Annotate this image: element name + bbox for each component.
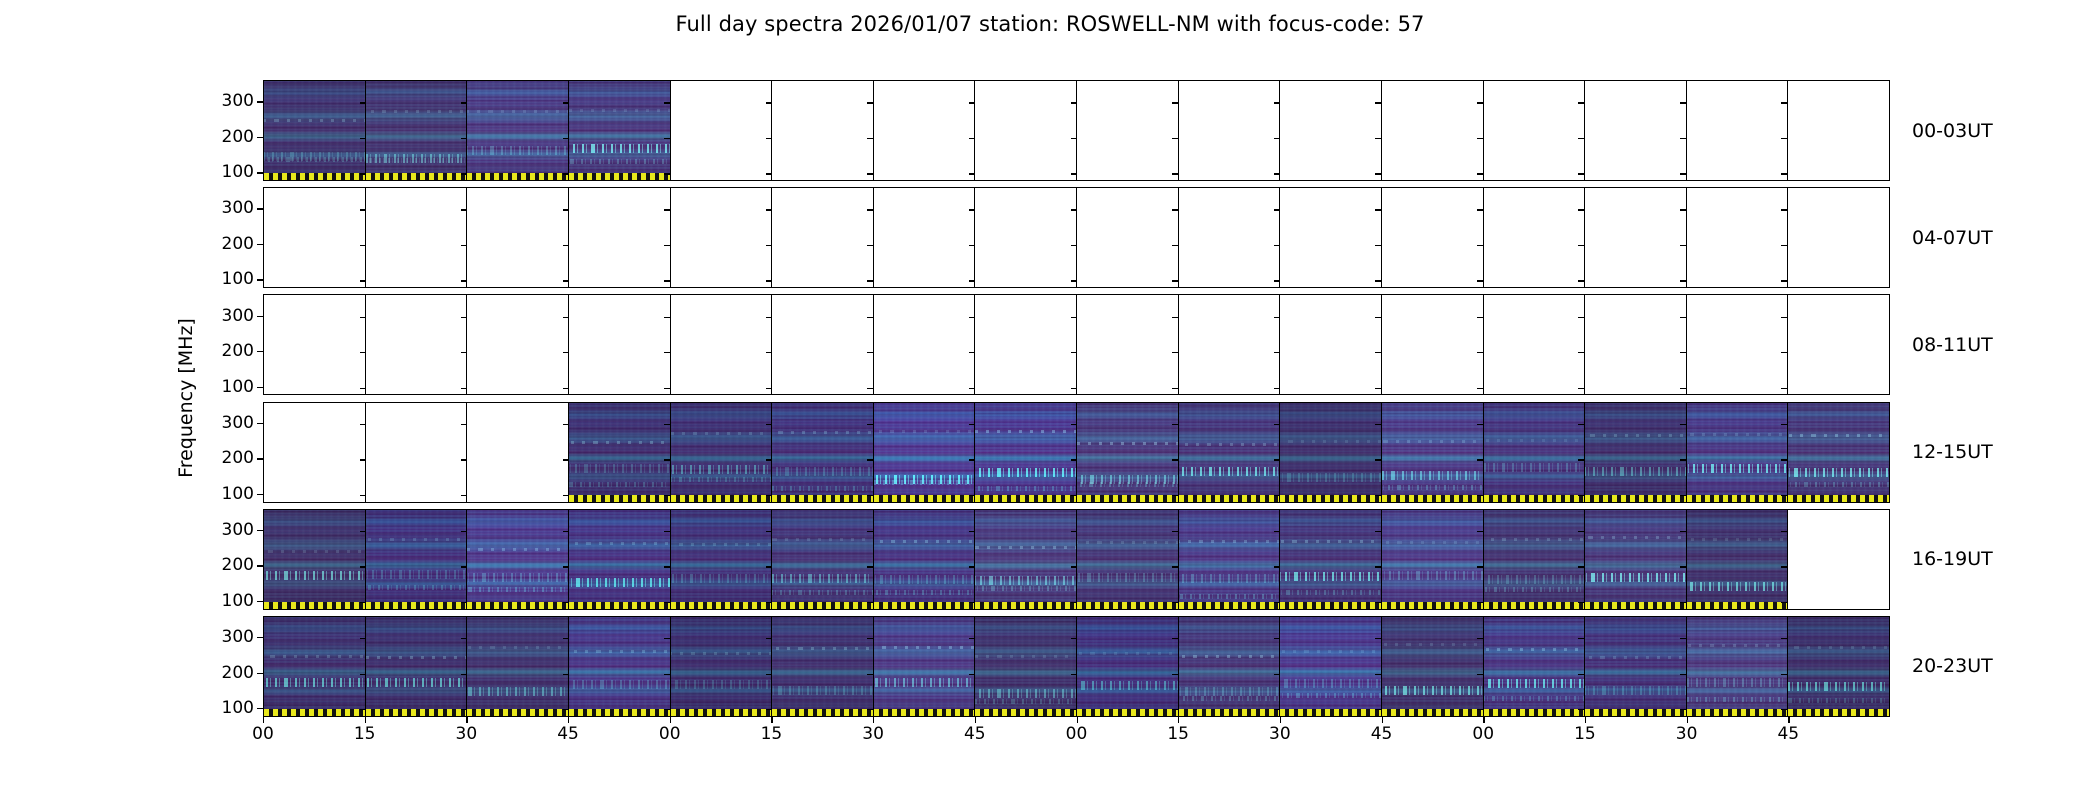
y-tick-mark-inner (969, 280, 975, 281)
y-tick-label: 200 (222, 663, 254, 683)
y-tick-mark-inner (766, 102, 772, 103)
y-tick-mark-inner (1274, 280, 1280, 281)
spectrogram-cell-empty[interactable] (1788, 81, 1889, 180)
spectrogram-cell-empty[interactable] (671, 188, 773, 287)
y-tick-mark-inner (360, 138, 366, 139)
y-tick-mark-inner (867, 495, 873, 496)
row-label-12-15ut: 12-15UT (1912, 441, 1993, 463)
emission-burst-band (1280, 473, 1381, 482)
y-tick-mark-inner (1375, 566, 1381, 567)
spectrogram-cell[interactable] (1484, 510, 1586, 609)
emission-burst-band-secondary (467, 587, 568, 592)
spectrogram-cell[interactable] (264, 510, 366, 609)
emission-burst-band-secondary (1788, 482, 1889, 487)
y-tick-label: 100 (222, 484, 254, 504)
y-tick-mark-inner (867, 173, 873, 174)
emission-burst-band (1484, 463, 1585, 472)
spectrogram-cell[interactable] (569, 617, 671, 716)
spectrogram-image (1077, 617, 1178, 709)
y-tick-mark (257, 101, 263, 102)
spectrogram-cell-empty[interactable] (1179, 81, 1281, 180)
y-tick-mark-inner (1680, 602, 1686, 603)
y-tick-mark-inner (1172, 138, 1178, 139)
spectrogram-cell-empty[interactable] (874, 81, 976, 180)
status-strip (975, 495, 1076, 502)
y-tick-mark-inner (1781, 138, 1787, 139)
y-tick-mark-inner (664, 352, 670, 353)
spectrogram-cell-empty[interactable] (1788, 510, 1889, 609)
y-tick-mark-inner (969, 566, 975, 567)
spectrogram-cell-empty[interactable] (569, 188, 671, 287)
spectrogram-cell[interactable] (1077, 617, 1179, 716)
spectrogram-cell[interactable] (264, 81, 366, 180)
spectrogram-image (772, 403, 873, 495)
spectrogram-image (264, 510, 365, 602)
spectral-streak-band (264, 550, 365, 553)
spectrogram-cell-empty[interactable] (1280, 295, 1382, 394)
spectrogram-cell[interactable] (1179, 403, 1281, 502)
spectrogram-cell[interactable] (671, 510, 773, 609)
x-tick-mark (263, 717, 264, 723)
y-tick-mark-inner (1071, 352, 1077, 353)
spectrogram-cell-empty[interactable] (467, 295, 569, 394)
spectral-streak-band (1687, 538, 1788, 541)
spectrogram-cell[interactable] (671, 617, 773, 716)
status-strip (1382, 495, 1483, 502)
spectrogram-image (1280, 617, 1381, 709)
y-tick-label: 200 (222, 555, 254, 575)
spectrogram-cell[interactable] (1585, 403, 1687, 502)
spectrogram-image (264, 81, 365, 173)
spectrogram-image (569, 81, 670, 173)
spectrogram-cell-empty[interactable] (1382, 295, 1484, 394)
spectrogram-cell[interactable] (366, 617, 468, 716)
y-tick-mark-inner (360, 388, 366, 389)
emission-burst-band (1788, 468, 1889, 477)
y-tick-mark-inner (1680, 352, 1686, 353)
y-tick-mark-inner (1375, 138, 1381, 139)
emission-burst-band (569, 144, 670, 153)
y-tick-mark-inner (1172, 459, 1178, 460)
y-tick-mark-inner (867, 709, 873, 710)
x-tick-label: 00 (1066, 724, 1088, 744)
y-tick-mark-inner (360, 209, 366, 210)
spectrogram-cell-empty[interactable] (1585, 81, 1687, 180)
spectrogram-cell-empty[interactable] (1179, 295, 1281, 394)
spectral-streak-band (569, 542, 670, 545)
y-tick-mark-inner (1477, 102, 1483, 103)
status-strip (1585, 495, 1686, 502)
status-strip (1788, 495, 1889, 502)
spectral-streak-band (1484, 439, 1585, 442)
spectrogram-cell-empty[interactable] (366, 295, 468, 394)
spectrogram-cell-empty[interactable] (874, 295, 976, 394)
emission-burst-band (1687, 678, 1788, 687)
y-tick-mark-inner (461, 209, 467, 210)
y-tick-mark-inner (1172, 674, 1178, 675)
spectrogram-cell-empty[interactable] (264, 403, 366, 502)
spectrogram-cell[interactable] (467, 510, 569, 609)
spectrogram-cell-empty[interactable] (366, 403, 468, 502)
spectrogram-cell-empty[interactable] (1077, 295, 1179, 394)
spectrogram-cell[interactable] (1179, 617, 1281, 716)
spectral-streak-band (772, 431, 873, 434)
status-strip (1484, 602, 1585, 609)
y-tick-mark-inner (1274, 459, 1280, 460)
status-strip (1280, 709, 1381, 716)
spectrogram-cell[interactable] (467, 617, 569, 716)
spectrogram-cell[interactable] (874, 510, 976, 609)
spectrogram-cell[interactable] (772, 403, 874, 502)
spectrogram-cell-empty[interactable] (1280, 188, 1382, 287)
y-tick-mark-inner (563, 317, 569, 318)
y-tick-mark-inner (1172, 424, 1178, 425)
y-tick-mark-inner (766, 209, 772, 210)
y-tick-mark-inner (1172, 102, 1178, 103)
emission-burst-band-secondary (772, 486, 873, 491)
y-tick-mark-inner (1781, 424, 1787, 425)
spectrogram-cell[interactable] (1484, 617, 1586, 716)
y-tick-mark-inner (1477, 602, 1483, 603)
spectrogram-cell[interactable] (1382, 510, 1484, 609)
y-tick-mark-inner (1578, 352, 1584, 353)
y-tick-mark-inner (1375, 709, 1381, 710)
spectrogram-image (1788, 617, 1889, 709)
spectrogram-cell-empty[interactable] (1077, 81, 1179, 180)
spectrogram-cell-empty[interactable] (264, 295, 366, 394)
status-strip (1179, 709, 1280, 716)
spectrogram-cell-empty[interactable] (1179, 188, 1281, 287)
spectrogram-cell-empty[interactable] (569, 295, 671, 394)
spectrogram-image (874, 510, 975, 602)
y-tick-mark-inner (867, 459, 873, 460)
y-tick-mark-inner (461, 531, 467, 532)
spectrogram-cell[interactable] (1280, 510, 1382, 609)
status-strip (264, 602, 365, 609)
status-strip (975, 602, 1076, 609)
y-tick-mark-inner (461, 424, 467, 425)
emission-burst-band-secondary (1484, 696, 1585, 701)
y-tick-mark-inner (1375, 495, 1381, 496)
spectrogram-cell-empty[interactable] (975, 295, 1077, 394)
y-tick-mark-inner (1274, 638, 1280, 639)
spectrogram-cell[interactable] (874, 403, 976, 502)
emission-burst-band (467, 573, 568, 582)
spectrogram-cell[interactable] (1687, 510, 1789, 609)
y-tick-mark-inner (766, 317, 772, 318)
spectrogram-cell[interactable] (772, 617, 874, 716)
spectrogram-cell[interactable] (1077, 403, 1179, 502)
spectrogram-image (975, 510, 1076, 602)
spectrogram-image (467, 510, 568, 602)
y-tick-mark-inner (766, 424, 772, 425)
spectrogram-image (1280, 403, 1381, 495)
y-tick-mark-inner (1477, 317, 1483, 318)
spectrogram-cell[interactable] (1484, 403, 1586, 502)
spectrogram-cell-empty[interactable] (975, 188, 1077, 287)
x-tick-label: 00 (252, 724, 274, 744)
spectral-streak-band (772, 647, 873, 650)
y-tick-mark-inner (1578, 459, 1584, 460)
spectrogram-cell-empty[interactable] (366, 188, 468, 287)
y-tick-mark-inner (1274, 566, 1280, 567)
y-tick-mark-inner (563, 388, 569, 389)
y-tick-mark-inner (664, 102, 670, 103)
spectrogram-cell-empty[interactable] (467, 188, 569, 287)
status-strip (569, 173, 670, 180)
spectrogram-image (1484, 510, 1585, 602)
spectrogram-cell[interactable] (975, 617, 1077, 716)
spectral-streak-band (1484, 538, 1585, 541)
emission-burst-band (569, 578, 670, 587)
spectrogram-cell-empty[interactable] (1280, 81, 1382, 180)
spectrogram-image (569, 510, 670, 602)
y-tick-mark-inner (1578, 638, 1584, 639)
spectral-streak-band (975, 430, 1076, 433)
y-tick-mark-inner (1375, 280, 1381, 281)
spectrogram-image (772, 510, 873, 602)
spectral-streak-band (874, 430, 975, 433)
y-tick-mark-inner (563, 209, 569, 210)
y-tick-mark-inner (1071, 317, 1077, 318)
y-tick-mark-inner (1071, 674, 1077, 675)
y-tick-mark-inner (1781, 638, 1787, 639)
y-tick-mark (257, 423, 263, 424)
spectrogram-cell-empty[interactable] (772, 295, 874, 394)
spectrogram-cell[interactable] (975, 403, 1077, 502)
spectrogram-row-16-19ut[interactable] (263, 509, 1890, 610)
y-tick-label: 300 (222, 413, 254, 433)
y-tick-mark-inner (1172, 495, 1178, 496)
y-tick-mark-inner (969, 531, 975, 532)
emission-burst-band (772, 574, 873, 583)
spectrogram-cell-empty[interactable] (975, 81, 1077, 180)
y-tick-mark-inner (1172, 531, 1178, 532)
y-tick-mark-inner (1172, 209, 1178, 210)
y-tick-mark-inner (664, 459, 670, 460)
y-tick-mark-inner (1477, 173, 1483, 174)
spectrogram-cell[interactable] (366, 510, 468, 609)
spectral-streak-band (1280, 650, 1381, 653)
y-tick-mark-inner (1477, 352, 1483, 353)
spectrogram-image (671, 403, 772, 495)
y-tick-mark-inner (1477, 638, 1483, 639)
spectrogram-cell[interactable] (569, 81, 671, 180)
y-tick-mark-inner (766, 138, 772, 139)
y-tick-mark-inner (867, 674, 873, 675)
spectrogram-cell[interactable] (772, 510, 874, 609)
y-tick-mark-inner (1274, 352, 1280, 353)
y-tick-mark-inner (867, 388, 873, 389)
spectrogram-image (671, 617, 772, 709)
y-tick-mark-inner (1781, 495, 1787, 496)
spectrogram-row-08-11ut[interactable] (263, 294, 1890, 395)
spectrogram-cell[interactable] (1280, 403, 1382, 502)
y-tick-mark-inner (1781, 531, 1787, 532)
spectrogram-cell[interactable] (1382, 617, 1484, 716)
spectrogram-cell-empty[interactable] (1382, 81, 1484, 180)
y-tick-mark-inner (1274, 495, 1280, 496)
status-strip (772, 709, 873, 716)
spectrogram-cell-empty[interactable] (1687, 188, 1789, 287)
emission-burst-band (1382, 686, 1483, 695)
spectrogram-cell-empty[interactable] (1585, 188, 1687, 287)
y-axis-label: Frequency [MHz] (175, 318, 197, 478)
spectrogram-cell-empty[interactable] (1585, 295, 1687, 394)
spectrogram-cell[interactable] (1687, 617, 1789, 716)
spectrogram-cell[interactable] (1687, 403, 1789, 502)
y-tick-mark-inner (867, 317, 873, 318)
row-label-04-07ut: 04-07UT (1912, 227, 1993, 249)
emission-burst-band-secondary (569, 159, 670, 164)
y-tick-label: 300 (222, 198, 254, 218)
y-tick-mark-inner (1071, 602, 1077, 603)
x-tick-label: 45 (1777, 724, 1799, 744)
spectrogram-cell-empty[interactable] (1484, 81, 1586, 180)
y-tick-mark-inner (969, 674, 975, 675)
x-tick-label: 30 (1676, 724, 1698, 744)
emission-burst-band (1382, 471, 1483, 480)
y-tick-mark-inner (461, 352, 467, 353)
spectrogram-cell[interactable] (569, 510, 671, 609)
y-tick-mark-inner (360, 280, 366, 281)
emission-burst-band (569, 464, 670, 473)
x-tick-label: 00 (1472, 724, 1494, 744)
y-tick-mark-inner (1680, 173, 1686, 174)
spectrogram-cell[interactable] (1280, 617, 1382, 716)
emission-burst-band (1484, 679, 1585, 688)
y-tick-mark-inner (1680, 566, 1686, 567)
y-tick-label: 200 (222, 341, 254, 361)
y-tick-mark-inner (766, 352, 772, 353)
spectrogram-cell-empty[interactable] (264, 188, 366, 287)
y-tick-mark-inner (867, 245, 873, 246)
y-tick-mark-inner (1071, 173, 1077, 174)
spectrogram-cell[interactable] (569, 403, 671, 502)
spectrogram-image (1484, 617, 1585, 709)
y-tick-mark-inner (664, 709, 670, 710)
spectrogram-cell[interactable] (1179, 510, 1281, 609)
y-tick-mark-inner (766, 173, 772, 174)
status-strip (1687, 709, 1788, 716)
spectrogram-row-04-07ut[interactable] (263, 187, 1890, 288)
y-tick-mark-inner (563, 102, 569, 103)
spectrogram-cell[interactable] (1788, 403, 1889, 502)
spectrogram-image (1687, 403, 1788, 495)
x-tick-mark (771, 717, 772, 723)
spectrogram-cell-empty[interactable] (467, 403, 569, 502)
y-tick-mark-inner (563, 245, 569, 246)
spectrogram-cell[interactable] (1585, 510, 1687, 609)
y-tick-mark-inner (766, 709, 772, 710)
y-tick-mark-inner (664, 138, 670, 139)
y-tick-mark-inner (1274, 317, 1280, 318)
spectrogram-cell[interactable] (1382, 403, 1484, 502)
y-tick-mark-inner (766, 602, 772, 603)
emission-burst-band (1585, 573, 1686, 582)
status-strip (1382, 709, 1483, 716)
emission-burst-band-secondary (1687, 697, 1788, 702)
spectrogram-cell[interactable] (366, 81, 468, 180)
spectrogram-cell-empty[interactable] (1788, 295, 1889, 394)
y-tick-mark-inner (1274, 388, 1280, 389)
y-tick-mark-inner (1172, 566, 1178, 567)
spectrogram-image (1179, 403, 1280, 495)
y-tick-mark-inner (766, 459, 772, 460)
emission-burst-band-secondary (1382, 485, 1483, 490)
spectrogram-cell-empty[interactable] (671, 81, 773, 180)
page-title: Full day spectra 2026/01/07 station: ROS… (0, 12, 2100, 36)
spectrogram-cell[interactable] (467, 81, 569, 180)
y-tick-mark-inner (461, 709, 467, 710)
spectrogram-cell-empty[interactable] (1484, 295, 1586, 394)
spectrogram-cell-empty[interactable] (772, 81, 874, 180)
spectrogram-cell[interactable] (1788, 617, 1889, 716)
y-tick-mark-inner (360, 352, 366, 353)
spectrogram-cell[interactable] (874, 617, 976, 716)
spectrogram-cell[interactable] (264, 617, 366, 716)
y-tick-mark-inner (1477, 138, 1483, 139)
y-tick-label: 100 (222, 377, 254, 397)
status-strip (1280, 602, 1381, 609)
y-tick-mark (257, 137, 263, 138)
spectrogram-image (569, 617, 670, 709)
spectrogram-cell-empty[interactable] (1788, 188, 1889, 287)
spectrogram-cell[interactable] (975, 510, 1077, 609)
x-tick-label: 45 (557, 724, 579, 744)
y-tick-mark-inner (1781, 209, 1787, 210)
spectrogram-row-00-03ut[interactable] (263, 80, 1890, 181)
y-tick-mark (257, 316, 263, 317)
y-tick-mark-inner (1680, 102, 1686, 103)
emission-burst-band-secondary (366, 158, 467, 163)
status-strip (671, 495, 772, 502)
spectrogram-row-12-15ut[interactable] (263, 402, 1890, 503)
y-tick-mark-inner (461, 638, 467, 639)
row-label-16-19ut: 16-19UT (1912, 548, 1993, 570)
y-tick-mark-inner (461, 459, 467, 460)
row-label-00-03ut: 00-03UT (1912, 120, 1993, 142)
spectrogram-cell-empty[interactable] (1687, 295, 1789, 394)
status-strip (366, 173, 467, 180)
spectrogram-cell-empty[interactable] (671, 295, 773, 394)
spectrogram-cell-empty[interactable] (1382, 188, 1484, 287)
y-tick-mark-inner (1172, 709, 1178, 710)
status-strip (366, 709, 467, 716)
y-tick-mark (257, 458, 263, 459)
y-tick-mark-inner (1781, 709, 1787, 710)
y-tick-mark-inner (563, 674, 569, 675)
y-tick-mark-inner (1578, 495, 1584, 496)
spectrogram-image (1179, 510, 1280, 602)
y-tick-mark-inner (867, 352, 873, 353)
spectrogram-cell-empty[interactable] (874, 188, 976, 287)
y-tick-mark-inner (1781, 459, 1787, 460)
status-strip (671, 709, 772, 716)
spectrogram-cell-empty[interactable] (772, 188, 874, 287)
emission-burst-band (366, 570, 467, 579)
spectrogram-cell[interactable] (671, 403, 773, 502)
spectrogram-cell-empty[interactable] (1687, 81, 1789, 180)
spectrogram-cell[interactable] (1585, 617, 1687, 716)
y-tick-label: 100 (222, 269, 254, 289)
y-tick-label: 200 (222, 127, 254, 147)
spectrogram-row-20-23ut[interactable] (263, 616, 1890, 717)
spectrogram-image (874, 403, 975, 495)
spectrogram-cell[interactable] (1077, 510, 1179, 609)
spectrogram-cell-empty[interactable] (1484, 188, 1586, 287)
spectrogram-cell-empty[interactable] (1077, 188, 1179, 287)
